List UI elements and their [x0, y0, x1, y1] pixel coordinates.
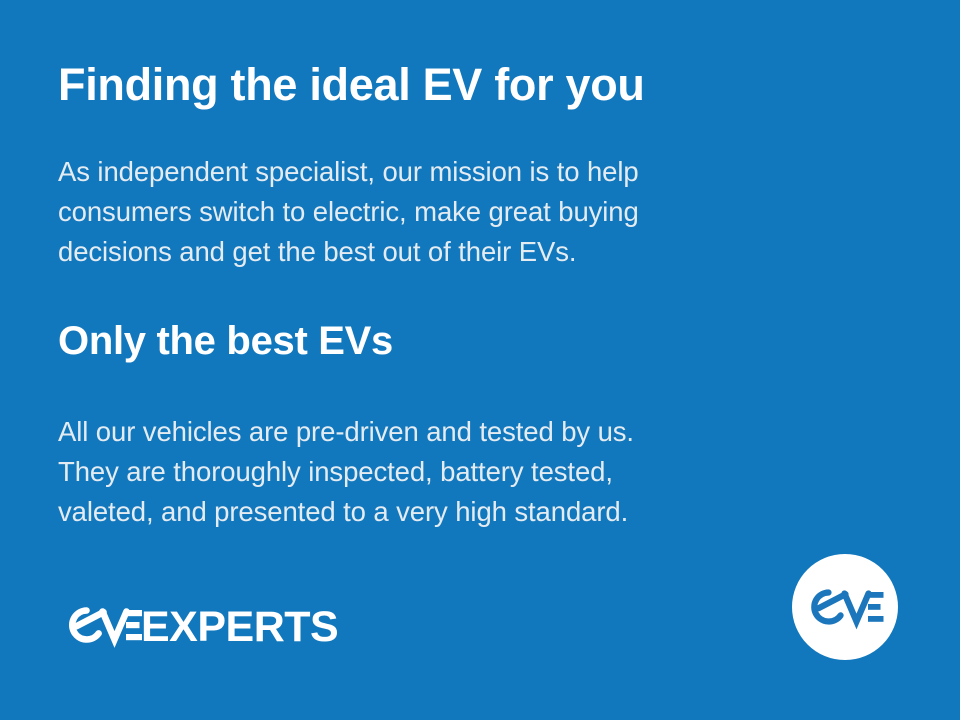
- quality-paragraph-line-3: valeted, and presented to a very high st…: [58, 492, 848, 532]
- ev-monogram-icon: [64, 602, 142, 653]
- intro-paragraph-line-3: decisions and get the best out of their …: [58, 232, 848, 272]
- slide-content: Finding the ideal EV for you As independ…: [58, 60, 848, 532]
- intro-paragraph-line-2: consumers switch to electric, make great…: [58, 192, 848, 232]
- evexperts-wordmark: EXPERTS: [64, 604, 340, 650]
- spacer: [58, 110, 848, 152]
- section-heading-quality: Only the best EVs: [58, 319, 848, 364]
- eve-circle-logo-icon: [792, 554, 898, 660]
- page-title: Finding the ideal EV for you: [58, 60, 848, 110]
- spacer: [58, 272, 848, 319]
- spacer: [58, 364, 848, 412]
- quality-paragraph-line-1: All our vehicles are pre-driven and test…: [58, 412, 848, 452]
- slide-canvas: Finding the ideal EV for you As independ…: [0, 0, 960, 720]
- quality-paragraph-line-2: They are thoroughly inspected, battery t…: [58, 452, 848, 492]
- wordmark-label: EXPERTS: [141, 606, 338, 649]
- intro-paragraph-line-1: As independent specialist, our mission i…: [58, 152, 848, 192]
